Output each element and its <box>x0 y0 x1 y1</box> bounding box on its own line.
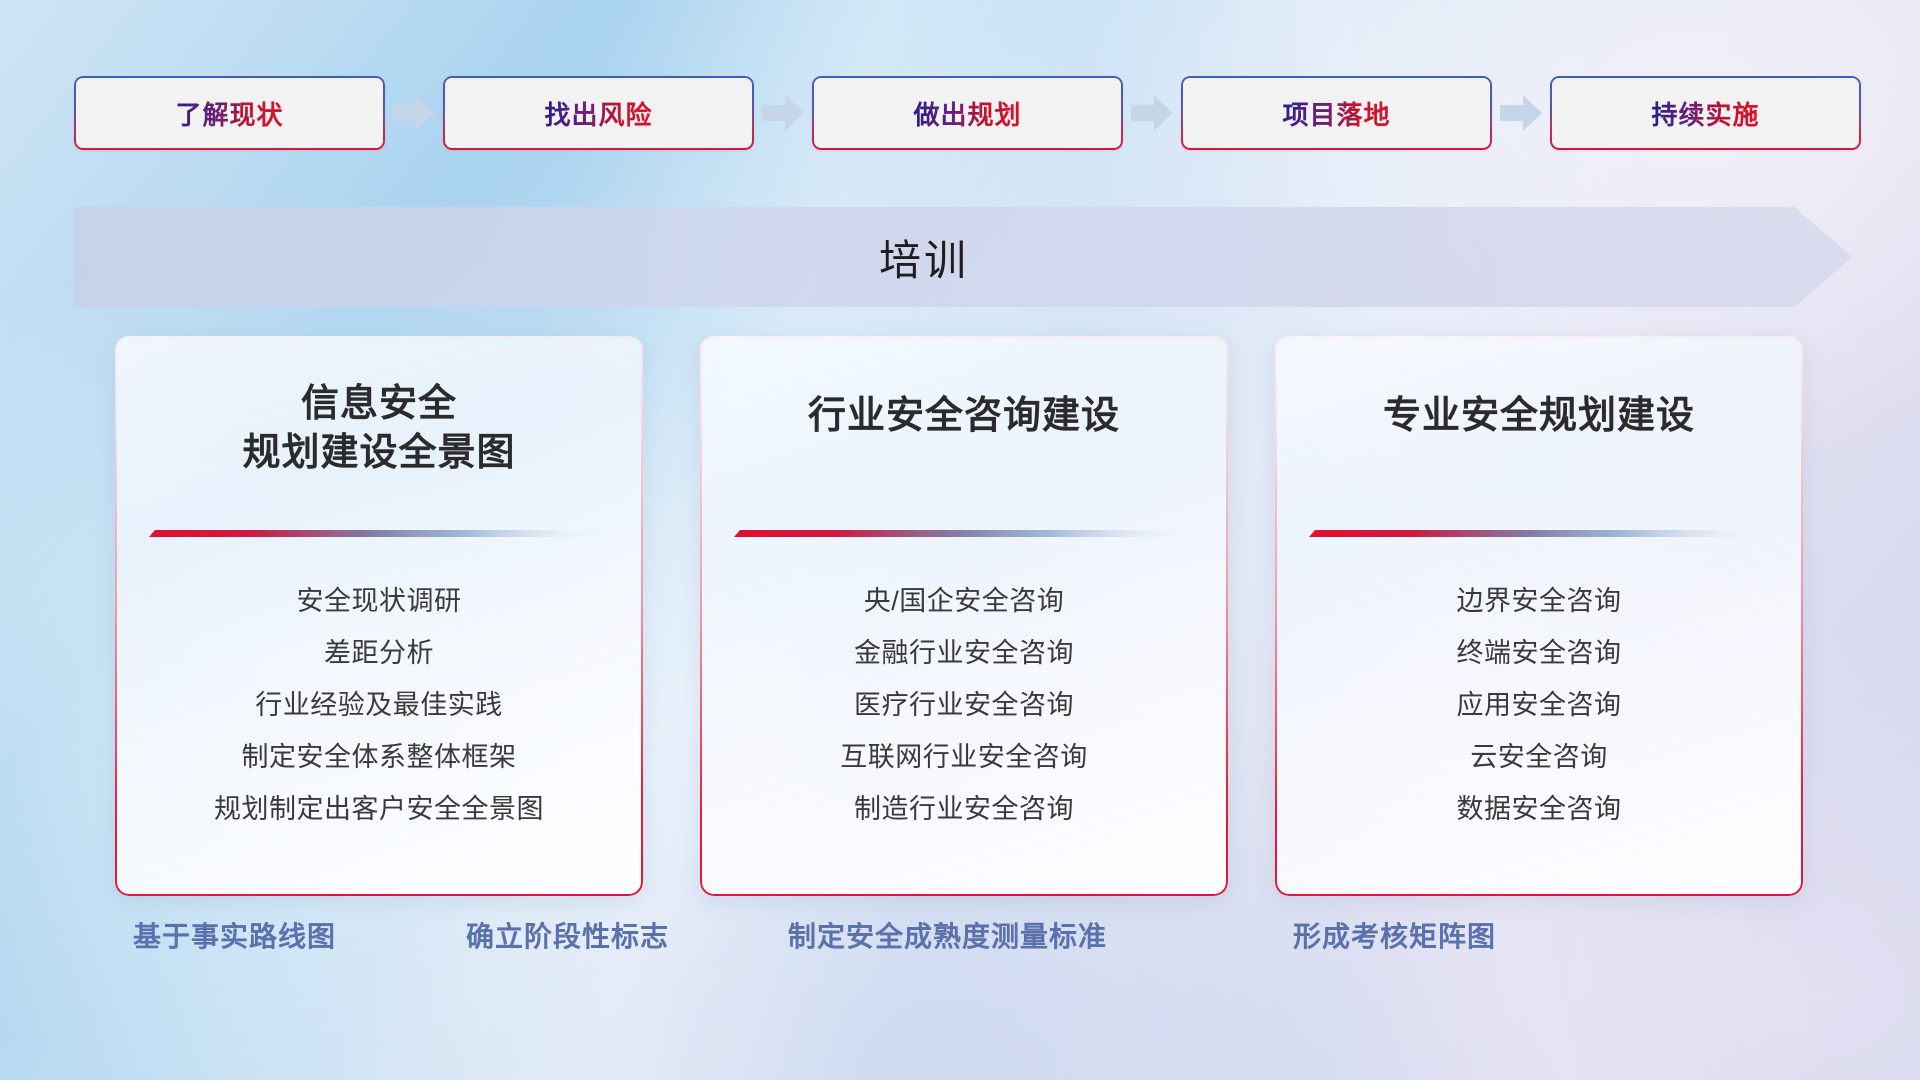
list-item: 差距分析 <box>115 640 643 692</box>
list-item: 规划制定出客户安全全景图 <box>115 796 643 848</box>
list-item: 应用安全咨询 <box>1275 692 1803 744</box>
gradient-divider-bar <box>1309 528 1769 539</box>
card-title: 信息安全 规划建设全景图 <box>149 336 609 477</box>
cards-row: 信息安全 规划建设全景图 安全现状调研 差距分析 行业经 <box>0 336 1920 896</box>
list-item: 医疗行业安全咨询 <box>700 692 1228 744</box>
slide-canvas: 了解现状 找出风险 做出规划 项目落地 <box>0 0 1920 1080</box>
footer-label-milestones: 确立阶段性标志 <box>466 915 669 955</box>
list-item: 安全现状调研 <box>115 588 643 640</box>
list-item: 金融行业安全咨询 <box>700 640 1228 692</box>
card-item-list: 央/国企安全咨询 金融行业安全咨询 医疗行业安全咨询 互联网行业安全咨询 制造行… <box>700 588 1228 848</box>
list-item: 云安全咨询 <box>1275 744 1803 796</box>
right-arrow-icon <box>1123 95 1181 131</box>
card-information-security-panorama[interactable]: 信息安全 规划建设全景图 安全现状调研 差距分析 行业经 <box>115 336 643 896</box>
card-item-list: 安全现状调研 差距分析 行业经验及最佳实践 制定安全体系整体框架 规划制定出客户… <box>115 588 643 848</box>
step-label: 做出规划 <box>913 95 1021 132</box>
list-item: 数据安全咨询 <box>1275 796 1803 848</box>
card-title: 行业安全咨询建设 <box>734 336 1194 441</box>
card-professional-security-planning[interactable]: 专业安全规划建设 边界安全咨询 终端安全咨询 应用安全咨 <box>1275 336 1803 896</box>
right-arrow-icon <box>754 95 812 131</box>
step-box-1[interactable]: 了解现状 <box>74 76 385 150</box>
banner-title: 培训 <box>74 207 1774 307</box>
step-label: 找出风险 <box>544 95 652 132</box>
gradient-divider-bar <box>149 528 609 539</box>
step-label: 项目落地 <box>1282 95 1390 132</box>
step-label: 了解现状 <box>175 95 283 132</box>
card-item-list: 边界安全咨询 终端安全咨询 应用安全咨询 云安全咨询 数据安全咨询 <box>1275 588 1803 848</box>
footer-label-row: 基于事实路线图 确立阶段性标志 制定安全成熟度测量标准 形成考核矩阵图 <box>0 915 1920 969</box>
step-box-5[interactable]: 持续实施 <box>1550 76 1861 150</box>
list-item: 制定安全体系整体框架 <box>115 744 643 796</box>
footer-label-roadmap: 基于事实路线图 <box>133 915 336 955</box>
list-item: 制造行业安全咨询 <box>700 796 1228 848</box>
process-step-bar: 了解现状 找出风险 做出规划 项目落地 <box>74 76 1864 150</box>
step-box-3[interactable]: 做出规划 <box>812 76 1123 150</box>
gradient-divider-bar <box>734 528 1194 539</box>
card-industry-security-consulting[interactable]: 行业安全咨询建设 央/国企安全咨询 金融行业安全咨询 医 <box>700 336 1228 896</box>
right-arrow-icon <box>1492 95 1550 131</box>
card-title: 专业安全规划建设 <box>1309 336 1769 441</box>
step-label: 持续实施 <box>1651 95 1759 132</box>
step-box-2[interactable]: 找出风险 <box>443 76 754 150</box>
list-item: 央/国企安全咨询 <box>700 588 1228 640</box>
training-banner: 培训 <box>74 207 1852 307</box>
footer-label-assessment-matrix: 形成考核矩阵图 <box>1293 915 1496 955</box>
footer-label-maturity-standard: 制定安全成熟度测量标准 <box>788 915 1107 955</box>
list-item: 边界安全咨询 <box>1275 588 1803 640</box>
step-box-4[interactable]: 项目落地 <box>1181 76 1492 150</box>
list-item: 终端安全咨询 <box>1275 640 1803 692</box>
list-item: 行业经验及最佳实践 <box>115 692 643 744</box>
right-arrow-icon <box>385 95 443 131</box>
list-item: 互联网行业安全咨询 <box>700 744 1228 796</box>
